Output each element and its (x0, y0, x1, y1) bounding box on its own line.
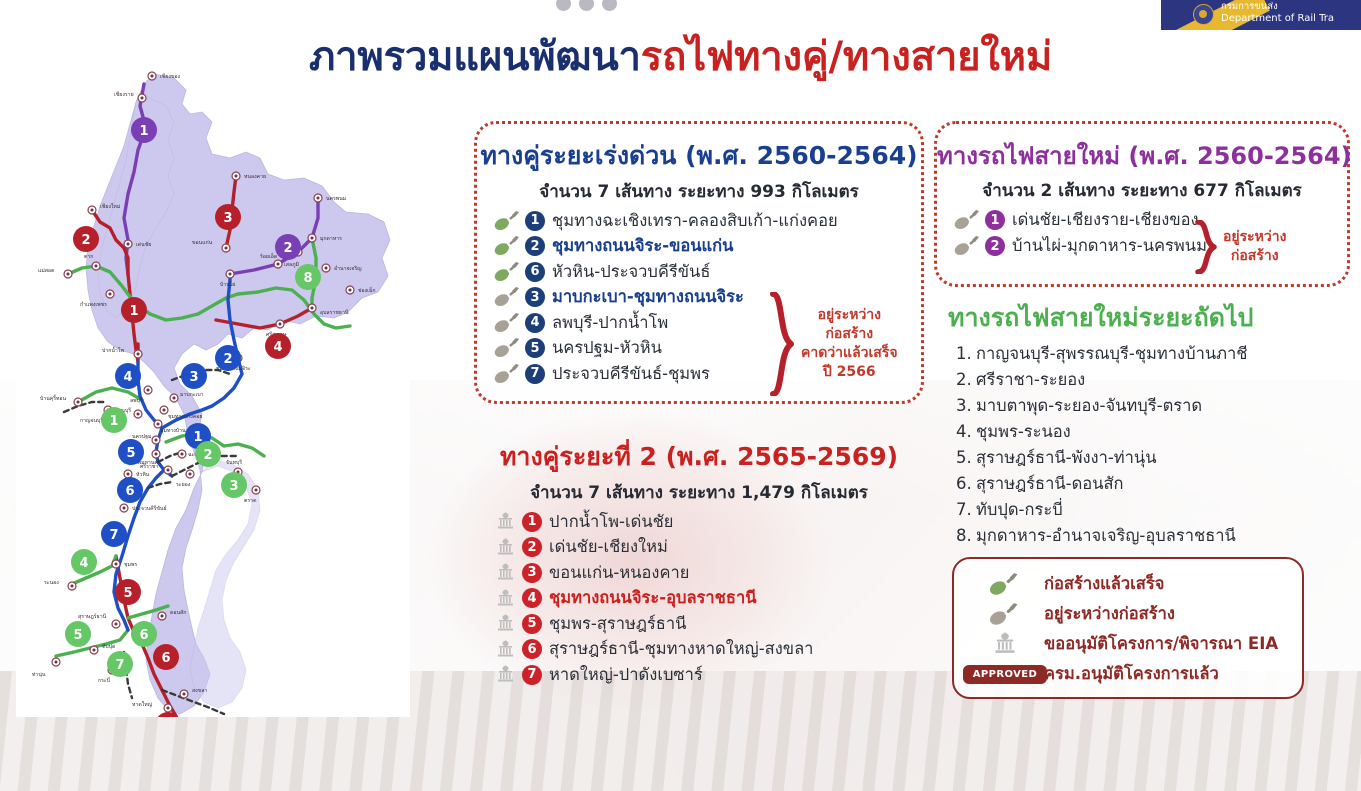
route-badge: 3 (522, 563, 542, 583)
phase2-subtitle: จำนวน 7 เส้นทาง ระยะทาง 1,479 กิโลเมตร (474, 479, 924, 506)
list-item-number: 8. (948, 523, 976, 549)
svg-text:อุบลราชธานี: อุบลราชธานี (320, 309, 349, 316)
phase2-dualtrack-section: ทางคู่ระยะที่ 2 (พ.ศ. 2565-2569) จำนวน 7… (474, 437, 924, 687)
shovel-gray-icon (491, 312, 525, 334)
route-label: หัวหิน-ประจวบคีรีขันธ์ (552, 259, 710, 285)
top-dot-3 (602, 0, 617, 11)
map-marker-red-4: 4 (265, 333, 291, 359)
route-label: ลพบุรี-ปากน้ำโพ (552, 310, 668, 336)
table-row[interactable]: 1 ปากน้ำโพ-เด่นชัย (474, 509, 924, 535)
table-row[interactable]: 6 หัวหิน-ประจวบคีรีขันธ์ (477, 259, 921, 285)
svg-text:ตาก: ตาก (84, 254, 93, 260)
newline-note-text: อยู่ระหว่างก่อสร้าง (1223, 228, 1286, 266)
route-label: ชุมทางฉะเชิงเทรา-คลองสิบเก้า-แก่งคอย (552, 208, 838, 234)
svg-text:4: 4 (123, 370, 132, 385)
banner-title-th: กรมการขนส่ง (1221, 2, 1334, 13)
list-item-label: ทับปุด-กระบี่ (976, 497, 1063, 523)
map-svg: .lnP { stroke:#7b3fb5; stroke-width:3.4;… (16, 62, 410, 717)
legend-label: ครม.อนุมัติโครงการแล้ว (1044, 661, 1219, 687)
map-marker-blue-2: 2 (215, 345, 241, 371)
map-marker-green-2: 2 (195, 441, 221, 467)
map-marker-blue-3: 3 (181, 363, 207, 389)
top-dot-1 (556, 0, 571, 11)
table-row[interactable]: 3 ขอนแก่น-หนองคาย (474, 560, 924, 586)
svg-text:จันทบุรี: จันทบุรี (226, 459, 242, 466)
list-item-number: 6. (948, 471, 976, 497)
svg-text:ร้อยเอ็ด: ร้อยเอ็ด (260, 252, 277, 260)
svg-text:6: 6 (161, 651, 170, 666)
svg-text:กำแพงเพชร: กำแพงเพชร (80, 301, 107, 308)
new-railline-box: ทางรถไฟสายใหม่ (พ.ศ. 2560-2564) จำนวน 2 … (934, 121, 1350, 287)
svg-text:6: 6 (139, 628, 148, 643)
svg-text:ช่องเม็ก: ช่องเม็ก (358, 286, 376, 294)
route-label: เด่นชัย-เชียงใหม่ (549, 534, 668, 560)
route-badge: 2 (522, 537, 542, 557)
page-title: ภาพรวมแผนพัฒนารถไฟทางคู่/ทางสายใหม่ (0, 24, 1361, 88)
svg-text:1: 1 (109, 414, 118, 429)
table-row[interactable]: 6 สุราษฎร์ธานี-ชุมทางหาดใหญ่-สงขลา (474, 637, 924, 663)
urgent-box-title: ทางคู่ระยะเร่งด่วน (พ.ศ. 2560-2564) (477, 136, 921, 176)
route-badge: 2 (985, 236, 1005, 256)
shovel-gray-icon (966, 602, 1044, 627)
route-label: สุราษฎร์ธานี-ชุมทางหาดใหญ่-สงขลา (549, 636, 813, 662)
top-dot-2 (579, 0, 594, 11)
legend-label: ก่อสร้างแล้วเสร็จ (1044, 571, 1164, 597)
table-row[interactable]: 1 ชุมทางฉะเชิงเทรา-คลองสิบเก้า-แก่งคอย (477, 208, 921, 234)
svg-text:ดอนสัก: ดอนสัก (170, 609, 186, 616)
svg-text:ลพบุรี: ลพบุรี (130, 397, 143, 404)
svg-text:หนองคาย: หนองคาย (244, 174, 266, 180)
map-marker-green-4: 4 (71, 549, 97, 575)
legend-row-building: อยู่ระหว่างก่อสร้าง (954, 599, 1302, 629)
legend-row-completed: ก่อสร้างแล้วเสร็จ (954, 569, 1302, 599)
svg-text:2: 2 (203, 448, 212, 463)
list-item-number: 4. (948, 419, 976, 445)
map-marker-purple-2: 2 (275, 234, 301, 260)
shovel-green-icon (491, 210, 525, 232)
svg-text:1: 1 (193, 430, 202, 445)
government-building-icon (488, 563, 522, 582)
svg-text:2: 2 (223, 352, 232, 367)
top-dots (556, 0, 617, 11)
map-marker-green-5: 5 (65, 621, 91, 647)
shovel-gray-icon (491, 286, 525, 308)
list-item-label: สุราษฎร์ธานี-ดอนสัก (976, 471, 1124, 497)
map-marker-green-6: 6 (131, 621, 157, 647)
route-label: ชุมพร-สุราษฎร์ธานี (549, 611, 686, 637)
phase2-route-list: 1 ปากน้ำโพ-เด่นชัย 2 เด่นชัย-เชียงใหม่ 3… (474, 509, 924, 688)
svg-text:นครพนม: นครพนม (326, 196, 346, 202)
map-marker-red-6: 6 (153, 644, 179, 670)
approved-badge-text: APPROVED (963, 665, 1047, 684)
banner-text: กรมการขนส่ง Department of Rail Tra (1221, 2, 1334, 24)
svg-text:ท่านุ่น: ท่านุ่น (32, 672, 46, 678)
curly-bracket-icon (1195, 220, 1217, 274)
svg-text:มาบกะเบา: มาบกะเบา (180, 392, 204, 398)
svg-text:4: 4 (79, 556, 88, 571)
page-title-part1: ภาพรวมแผนพัฒนา (309, 34, 641, 80)
urgent-bracket-note: อยู่ระหว่างก่อสร้างคาดว่าแล้วเสร็จปี 256… (769, 292, 898, 396)
phase2-title: ทางคู่ระยะที่ 2 (พ.ศ. 2565-2569) (474, 437, 924, 477)
map-marker-red-1: 1 (121, 297, 147, 323)
shovel-gray-icon (491, 337, 525, 359)
map-marker-blue-5: 5 (118, 439, 144, 465)
map-marker-purple-1: 1 (131, 117, 157, 143)
government-building-icon (488, 640, 522, 659)
svg-text:3: 3 (189, 370, 198, 385)
rail-line-dashed-west (64, 402, 106, 412)
list-item[interactable]: 8.มุกดาหาร-อำนาจเจริญ-อุบลราชธานี (948, 523, 1348, 549)
route-label: ชุมทางถนนจิระ-ขอนแก่น (552, 233, 733, 259)
legend-label: อยู่ระหว่างก่อสร้าง (1044, 601, 1175, 627)
approved-badge-icon: APPROVED (966, 665, 1044, 684)
route-badge: 6 (522, 639, 542, 659)
rail-line-green-trat (224, 444, 264, 456)
svg-text:7: 7 (109, 528, 118, 543)
list-item-number: 3. (948, 393, 976, 419)
svg-text:1: 1 (129, 304, 138, 319)
table-row[interactable]: 2 ชุมทางถนนจิระ-ขอนแก่น (477, 234, 921, 260)
list-item-label: ชุมพร-ระนอง (976, 419, 1071, 445)
svg-text:ชุมพร: ชุมพร (124, 562, 137, 568)
list-item-label: ศรีราชา-ระยอง (976, 367, 1085, 393)
banner-title-en: Department of Rail Tra (1221, 13, 1334, 25)
route-label: ประจวบคีรีขันธ์-ชุมพร (552, 361, 710, 387)
map-marker-blue-4: 4 (115, 363, 141, 389)
list-item-number: 7. (948, 497, 976, 523)
svg-text:บ้านคุริ้ทอน: บ้านคุริ้ทอน (40, 394, 67, 402)
route-label: นครปฐม-หัวหิน (552, 335, 662, 361)
svg-text:กาญจนบุรี: กาญจนบุรี (80, 417, 103, 424)
legend-box: ก่อสร้างแล้วเสร็จ อยู่ระหว่างก่อสร้าง ขอ… (952, 557, 1304, 699)
svg-text:ตราด: ตราด (244, 498, 256, 504)
map-marker-blue-6: 6 (117, 477, 143, 503)
newline-bracket-note: อยู่ระหว่างก่อสร้าง (1195, 220, 1286, 274)
route-badge: 7 (522, 665, 542, 685)
shovel-gray-icon (491, 363, 525, 385)
route-badge: 2 (525, 236, 545, 256)
map-marker-red-3: 3 (215, 204, 241, 230)
svg-text:3: 3 (223, 211, 232, 226)
route-badge: 1 (985, 210, 1005, 230)
svg-text:สงขลา: สงขลา (192, 688, 207, 694)
route-label: บ้านไผ่-มุกดาหาร-นครพนม (1012, 233, 1207, 259)
government-building-icon (488, 512, 522, 531)
list-item-number: 2. (948, 367, 976, 393)
svg-text:หาดใหญ่: หาดใหญ่ (132, 701, 153, 708)
route-badge: 4 (522, 588, 542, 608)
page-title-part2: รถไฟทางคู่/ทางสายใหม่ (641, 34, 1052, 80)
route-badge: 1 (522, 512, 542, 532)
department-banner: กรมการขนส่ง Department of Rail Tra (1161, 0, 1361, 30)
newline-box-title: ทางรถไฟสายใหม่ (พ.ศ. 2560-2564) (937, 136, 1347, 175)
list-item[interactable]: 5.สุราษฎร์ธานี-พังงา-ท่านุ่น (948, 445, 1348, 471)
list-item-label: กาญจนบุรี-สุพรรณบุรี-ชุมทางบ้านภาชี (976, 341, 1247, 367)
svg-text:ขอนแก่น: ขอนแก่น (192, 240, 213, 246)
next-newlines-title: ทางรถไฟสายใหม่ระยะถัดไป (948, 298, 1348, 338)
map-marker-green-1: 1 (101, 407, 127, 433)
svg-text:ประจวบคีรีขันธ์: ประจวบคีรีขันธ์ (132, 505, 167, 512)
list-item-label: มาบตาพุด-ระยอง-จันทบุรี-ตราด (976, 393, 1202, 419)
newline-box-subtitle: จำนวน 2 เส้นทาง ระยะทาง 677 กิโลเมตร (937, 177, 1347, 204)
route-badge: 6 (525, 262, 545, 282)
route-label: ขอนแก่น-หนองคาย (549, 560, 689, 586)
government-building-icon (966, 632, 1044, 656)
shovel-green-icon (966, 572, 1044, 597)
svg-text:ระนอง: ระนอง (44, 580, 59, 586)
svg-text:7: 7 (115, 658, 124, 673)
route-badge: 1 (525, 211, 545, 231)
route-badge: 5 (525, 338, 545, 358)
svg-text:2: 2 (81, 233, 90, 248)
route-label: หาดใหญ่-ปาดังเบซาร์ (549, 662, 703, 688)
map-marker-red-5: 5 (115, 579, 141, 605)
svg-text:5: 5 (73, 628, 82, 643)
svg-text:ชุมทางแก่งคอย: ชุมทางแก่งคอย (168, 414, 202, 420)
urgent-note-text: อยู่ระหว่างก่อสร้างคาดว่าแล้วเสร็จปี 256… (801, 306, 898, 382)
list-item-label: มุกดาหาร-อำนาจเจริญ-อุบลราชธานี (976, 523, 1236, 549)
thailand-rail-map[interactable]: .lnP { stroke:#7b3fb5; stroke-width:3.4;… (16, 62, 410, 717)
svg-text:5: 5 (123, 586, 132, 601)
urgent-box-subtitle: จำนวน 7 เส้นทาง ระยะทาง 993 กิโลเมตร (477, 178, 921, 205)
list-item[interactable]: 4.ชุมพร-ระนอง (948, 419, 1348, 445)
map-marker-green-8: 8 (295, 264, 321, 290)
svg-text:1: 1 (139, 124, 148, 139)
route-badge: 7 (525, 364, 545, 384)
government-building-icon (488, 538, 522, 557)
svg-text:แม่สอด: แม่สอด (38, 268, 54, 274)
list-item[interactable]: 2.ศรีราชา-ระยอง (948, 367, 1348, 393)
table-row[interactable]: 4 ชุมทางถนนจิระ-อุบลราชธานี (474, 586, 924, 612)
list-item[interactable]: 3.มาบตาพุด-ระยอง-จันทบุรี-ตราด (948, 393, 1348, 419)
list-item-label: สุราษฎร์ธานี-พังงา-ท่านุ่น (976, 445, 1157, 471)
government-building-icon (488, 589, 522, 608)
government-building-icon (488, 665, 522, 684)
svg-text:เด่นชัย: เด่นชัย (136, 241, 151, 248)
shovel-gray-icon (951, 209, 985, 231)
route-badge: 5 (522, 614, 542, 634)
list-item-number: 5. (948, 445, 976, 471)
svg-text:อำนาจเจริญ: อำนาจเจริญ (334, 265, 362, 272)
list-item[interactable]: 1.กาญจนบุรี-สุพรรณบุรี-ชุมทางบ้านภาชี (948, 341, 1348, 367)
department-emblem-icon (1193, 4, 1214, 25)
table-row[interactable]: 2 เด่นชัย-เชียงใหม่ (474, 535, 924, 561)
shovel-green-icon (491, 235, 525, 257)
svg-text:4: 4 (273, 340, 282, 355)
svg-text:8: 8 (303, 271, 312, 286)
urgent-dualtrack-box: ทางคู่ระยะเร่งด่วน (พ.ศ. 2560-2564) จำนว… (474, 121, 924, 404)
map-marker-blue-7: 7 (101, 521, 127, 547)
svg-text:3: 3 (229, 479, 238, 494)
list-item[interactable]: 6.สุราษฎร์ธานี-ดอนสัก (948, 471, 1348, 497)
svg-text:5: 5 (126, 446, 135, 461)
svg-text:นครปฐม: นครปฐม (132, 434, 151, 440)
route-label: ปากน้ำโพ-เด่นชัย (549, 509, 673, 535)
route-label: มาบกะเบา-ชุมทางถนนจิระ (552, 284, 744, 310)
route-label: เด่นชัย-เชียงราย-เชียงของ (1012, 207, 1199, 233)
shovel-green-icon (491, 261, 525, 283)
legend-row-approved: APPROVED ครม.อนุมัติโครงการแล้ว (954, 659, 1302, 689)
svg-text:เชียงราย: เชียงราย (114, 91, 134, 98)
svg-text:ปากน้ำโพ: ปากน้ำโพ (102, 346, 125, 354)
list-item[interactable]: 7.ทับปุด-กระบี่ (948, 497, 1348, 523)
shovel-gray-icon (951, 235, 985, 257)
map-marker-green-3: 3 (221, 472, 247, 498)
map-marker-green-7: 7 (107, 651, 133, 677)
svg-text:บ้านไผ่: บ้านไผ่ (220, 280, 235, 288)
route-badge: 3 (525, 287, 545, 307)
svg-text:กระบี่: กระบี่ (98, 677, 110, 684)
map-marker-red-2: 2 (73, 226, 99, 252)
legend-row-eia: ขออนุมัติโครงการ/พิจารณา EIA (954, 629, 1302, 659)
svg-text:หัวหิน: หัวหิน (136, 471, 150, 478)
route-label: ชุมทางถนนจิระ-อุบลราชธานี (549, 585, 757, 611)
curly-bracket-icon (769, 292, 795, 396)
table-row[interactable]: 5 ชุมพร-สุราษฎร์ธานี (474, 611, 924, 637)
svg-text:มุกดาหาร: มุกดาหาร (320, 236, 342, 242)
route-badge: 4 (525, 313, 545, 333)
svg-text:ระยอง: ระยอง (176, 482, 191, 488)
svg-text:ทับปุด: ทับปุด (102, 643, 115, 650)
next-newlines-section: ทางรถไฟสายใหม่ระยะถัดไป 1.กาญจนบุรี-สุพร… (948, 298, 1348, 538)
svg-text:เชียงใหม่: เชียงใหม่ (100, 203, 120, 210)
svg-text:6: 6 (125, 484, 134, 499)
government-building-icon (488, 614, 522, 633)
table-row[interactable]: 7 หาดใหญ่-ปาดังเบซาร์ (474, 662, 924, 688)
legend-label: ขออนุมัติโครงการ/พิจารณา EIA (1044, 631, 1278, 657)
next-newlines-list: 1.กาญจนบุรี-สุพรรณบุรี-ชุมทางบ้านภาชี 2.… (948, 341, 1348, 549)
svg-text:สุราษฎร์ธานี: สุราษฎร์ธานี (78, 613, 107, 620)
svg-text:เสลภูมิ: เสลภูมิ (284, 261, 299, 268)
svg-text:ศรีราชา: ศรีราชา (140, 463, 158, 470)
list-item-number: 1. (948, 341, 976, 367)
svg-text:2: 2 (283, 241, 292, 256)
